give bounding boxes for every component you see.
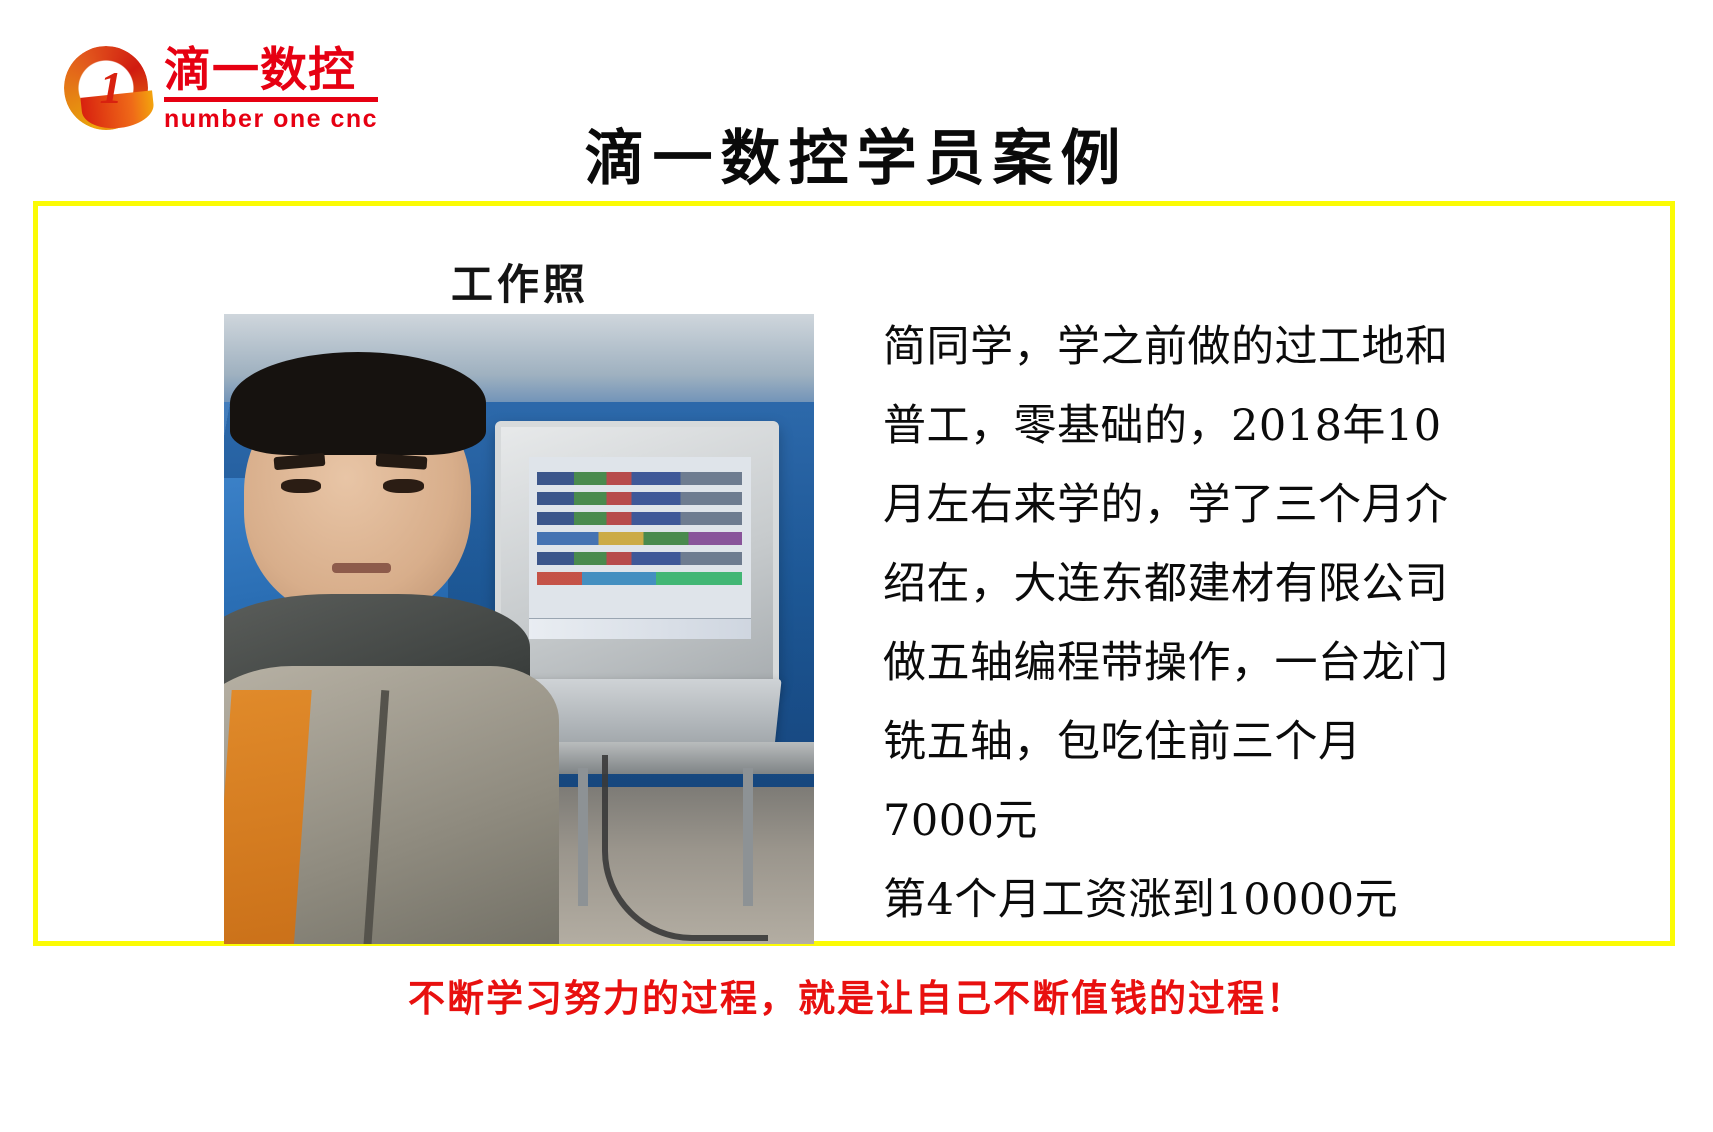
cnc-screen-row bbox=[537, 492, 742, 505]
testimonial-line: 第4个月工资涨到10000元 bbox=[883, 861, 1573, 940]
cnc-screen-row bbox=[537, 532, 742, 545]
photo-label: 工作照 bbox=[451, 251, 589, 312]
testimonial-line: 做五轴编程带操作，一台龙门 bbox=[883, 624, 1573, 703]
page-title: 滴一数控学员案例 bbox=[0, 110, 1713, 197]
cnc-screen-row bbox=[537, 572, 742, 585]
footer-slogan: 不断学习努力的过程，就是让自己不断值钱的过程！ bbox=[0, 968, 1713, 1022]
testimonial-line: 月左右来学的，学了三个月介 bbox=[883, 466, 1573, 545]
cnc-screen-row bbox=[537, 512, 742, 525]
person-eye-left bbox=[281, 479, 321, 494]
testimonial-line: 绍在，大连东都建材有限公司 bbox=[883, 545, 1573, 624]
testimonial-line: 铣五轴，包吃住前三个月 bbox=[883, 703, 1573, 782]
page-header: 1 滴一数控 number one cnc 滴一数控学员案例 bbox=[0, 0, 1713, 200]
logo-chinese-name: 滴一数控 bbox=[164, 44, 378, 102]
photo-person bbox=[224, 352, 566, 944]
testimonial-line: 简同学，学之前做的过工地和 bbox=[883, 308, 1573, 387]
testimonial-line: 7000元 bbox=[883, 782, 1573, 861]
student-work-photo bbox=[224, 314, 814, 944]
person-eye-right bbox=[383, 479, 423, 494]
testimonial-text: 简同学，学之前做的过工地和 普工，零基础的，2018年10 月左右来学的，学了三… bbox=[883, 308, 1573, 940]
cnc-screen-row bbox=[537, 552, 742, 565]
testimonial-line: 普工，零基础的，2018年10 bbox=[883, 387, 1573, 466]
person-hair bbox=[230, 352, 486, 455]
cnc-screen-row bbox=[537, 472, 742, 485]
photo-cable bbox=[602, 755, 768, 941]
person-mouth bbox=[332, 563, 391, 573]
logo-numeral-one: 1 bbox=[98, 64, 124, 112]
content-frame: 工作照 bbox=[33, 201, 1675, 946]
photo-bench-leg bbox=[578, 768, 588, 907]
